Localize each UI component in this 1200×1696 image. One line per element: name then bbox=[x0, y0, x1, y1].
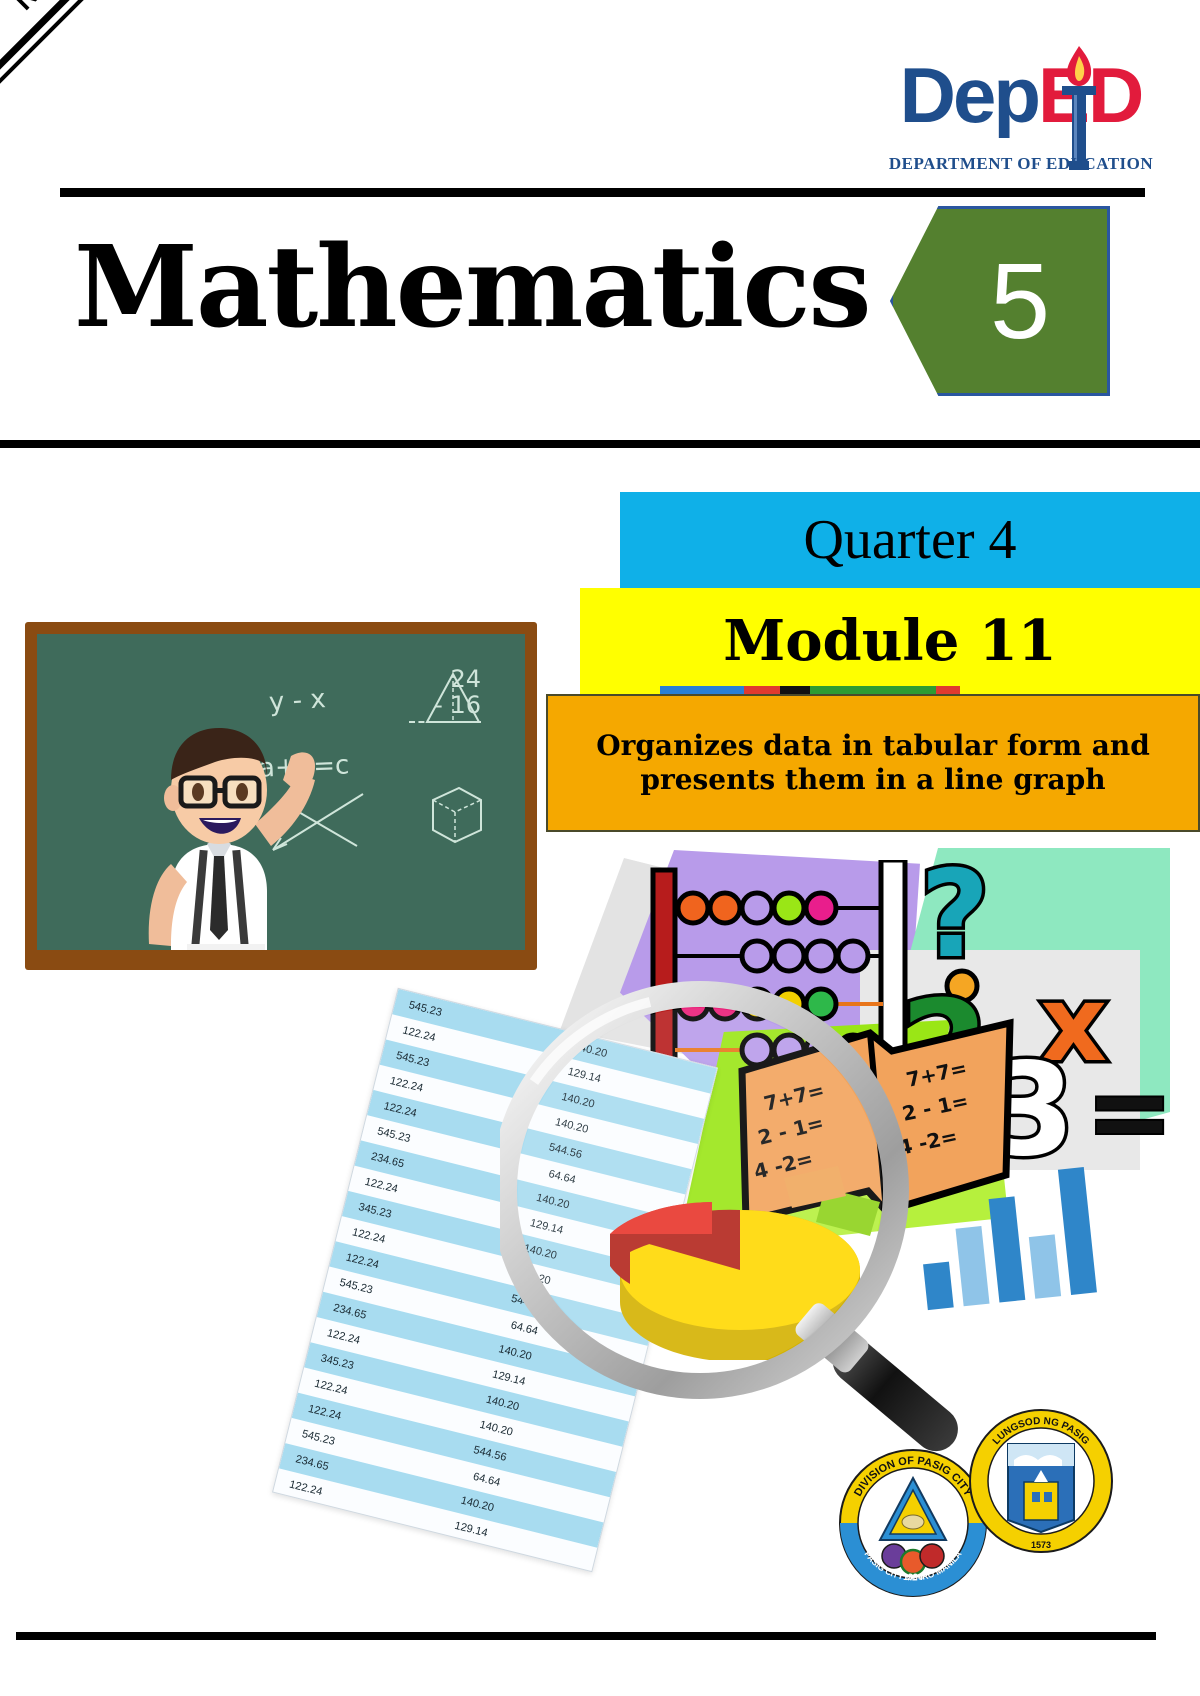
ribbon-line-1: GOVERNMENT PROPERTY bbox=[0, 0, 183, 3]
city-seal-year: 1573 bbox=[1031, 1540, 1051, 1550]
footer-divider bbox=[16, 1632, 1156, 1640]
quarter-banner: Quarter 4 bbox=[620, 492, 1200, 588]
competency-banner: Organizes data in tabular form and prese… bbox=[546, 694, 1200, 832]
division-of-pasig-city-seal: DIVISION OF PASIG CITY 1994 PASIG CITY M… bbox=[838, 1448, 988, 1598]
grade-level-badge: 5 bbox=[890, 206, 1110, 396]
teacher-waving-icon bbox=[115, 694, 325, 950]
decorative-color-strip bbox=[660, 686, 960, 694]
grade-level-number: 5 bbox=[950, 247, 1050, 355]
module-cover-page: GOVERNMENT PROPERTY NOT FOR SALE DepED D… bbox=[0, 0, 1200, 1696]
module-banner: Module 11 bbox=[580, 588, 1200, 694]
lungsod-ng-pasig-seal: LUNGSOD NG PASIG 1573 bbox=[968, 1408, 1114, 1554]
magnifying-glass-icon bbox=[500, 970, 1020, 1530]
deped-subtitle: DEPARTMENT OF EDUCATION bbox=[876, 154, 1166, 174]
header-divider-top bbox=[60, 188, 1145, 197]
page-title: Mathematics bbox=[74, 232, 870, 344]
competency-text: Organizes data in tabular form and prese… bbox=[562, 729, 1184, 797]
deped-dep-text: Dep bbox=[900, 51, 1038, 139]
government-property-ribbon: GOVERNMENT PROPERTY NOT FOR SALE bbox=[0, 0, 332, 238]
ribbon-line-2: NOT FOR SALE bbox=[8, 0, 196, 16]
quarter-label: Quarter 4 bbox=[803, 512, 1016, 568]
header-divider-bottom bbox=[0, 440, 1200, 448]
deped-logo: DepED DEPARTMENT OF EDUCATION bbox=[876, 48, 1166, 178]
equals-glyph: = bbox=[1086, 1051, 1170, 1160]
module-label: Module 11 bbox=[723, 613, 1057, 669]
deped-wordmark: DepED bbox=[876, 56, 1166, 134]
triangle-icon bbox=[423, 670, 483, 728]
question-mark-glyph: ? bbox=[920, 860, 990, 985]
